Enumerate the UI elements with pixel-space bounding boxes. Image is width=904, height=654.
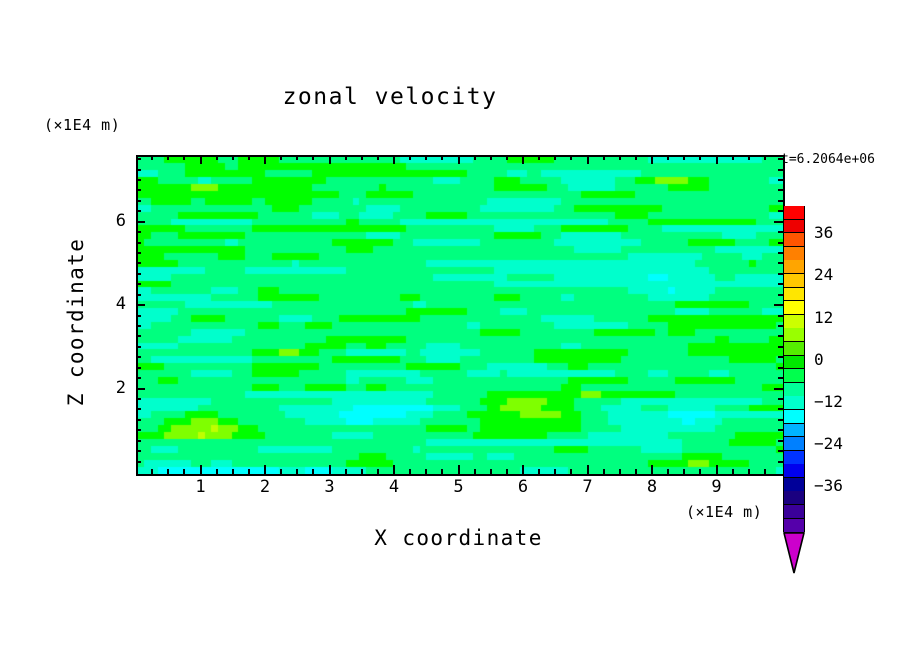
y-tick bbox=[774, 388, 783, 390]
colorbar-segment bbox=[783, 342, 805, 356]
x-tick bbox=[377, 469, 379, 474]
y-tick bbox=[136, 210, 141, 212]
x-tick bbox=[312, 469, 314, 474]
x-tick-label: 8 bbox=[632, 477, 672, 497]
y-tick bbox=[136, 315, 141, 317]
y-tick bbox=[136, 440, 141, 442]
y-tick bbox=[136, 388, 145, 390]
y-tick bbox=[778, 200, 783, 202]
colorbar-segment bbox=[783, 410, 805, 424]
x-tick bbox=[409, 469, 411, 474]
x-tick bbox=[183, 155, 185, 160]
x-tick bbox=[635, 469, 637, 474]
contour-plot-area bbox=[136, 155, 785, 476]
y-tick bbox=[136, 398, 141, 400]
x-tick bbox=[474, 469, 476, 474]
x-tick bbox=[554, 155, 556, 160]
y-tick bbox=[136, 242, 141, 244]
colorbar-bottom-arrow bbox=[783, 532, 805, 574]
x-tick-label: 7 bbox=[568, 477, 608, 497]
x-tick bbox=[345, 469, 347, 474]
x-axis-title: X coordinate bbox=[136, 526, 781, 550]
x-tick bbox=[151, 469, 153, 474]
x-tick bbox=[667, 469, 669, 474]
colorbar-segment bbox=[783, 274, 805, 288]
y-tick-label: 2 bbox=[96, 378, 126, 398]
x-tick bbox=[506, 469, 508, 474]
x-tick bbox=[716, 155, 718, 164]
x-tick bbox=[538, 155, 540, 160]
x-tick bbox=[167, 155, 169, 160]
x-tick bbox=[506, 155, 508, 160]
y-tick bbox=[774, 221, 783, 223]
x-tick bbox=[264, 465, 266, 474]
x-tick bbox=[699, 155, 701, 160]
y-tick bbox=[778, 179, 783, 181]
y-tick bbox=[136, 429, 141, 431]
colorbar-segment bbox=[783, 206, 805, 220]
x-tick bbox=[296, 469, 298, 474]
x-tick bbox=[280, 155, 282, 160]
colorbar-segment bbox=[783, 383, 805, 397]
x-tick bbox=[683, 469, 685, 474]
colorbar-segment bbox=[783, 451, 805, 465]
x-tick bbox=[683, 155, 685, 160]
x-tick bbox=[183, 469, 185, 474]
x-tick bbox=[312, 155, 314, 160]
colorbar-segment bbox=[783, 220, 805, 234]
x-tick bbox=[570, 155, 572, 160]
x-tick bbox=[458, 155, 460, 164]
colorbar-segment bbox=[783, 356, 805, 370]
x-tick bbox=[167, 469, 169, 474]
y-tick bbox=[136, 408, 141, 410]
colorbar-tick-label: −12 bbox=[814, 392, 843, 411]
x-tick bbox=[587, 155, 589, 164]
x-tick bbox=[329, 465, 331, 474]
figure-canvas: zonal velocity (×1E4 m) (×1E4 m) X coord… bbox=[0, 0, 904, 654]
colorbar-tick-label: 24 bbox=[814, 265, 833, 284]
x-tick bbox=[651, 465, 653, 474]
x-tick bbox=[748, 155, 750, 160]
x-tick bbox=[280, 469, 282, 474]
y-tick bbox=[136, 252, 141, 254]
colorbar-tick-label: −36 bbox=[814, 476, 843, 495]
x-tick bbox=[490, 469, 492, 474]
colorbar-segment bbox=[783, 478, 805, 492]
x-tick-label: 1 bbox=[181, 477, 221, 497]
x-tick bbox=[296, 155, 298, 160]
x-tick bbox=[425, 469, 427, 474]
x-tick bbox=[651, 155, 653, 164]
y-tick bbox=[136, 325, 141, 327]
x-tick bbox=[216, 155, 218, 160]
y-tick-label: 4 bbox=[96, 294, 126, 314]
colorbar-segment bbox=[783, 315, 805, 329]
x-tick bbox=[474, 155, 476, 160]
colorbar-segment bbox=[783, 424, 805, 438]
x-tick bbox=[732, 155, 734, 160]
y-tick bbox=[774, 304, 783, 306]
x-tick bbox=[151, 155, 153, 160]
y-tick bbox=[136, 273, 141, 275]
y-tick bbox=[136, 189, 141, 191]
y-tick bbox=[136, 179, 141, 181]
x-tick bbox=[699, 469, 701, 474]
y-tick bbox=[136, 294, 141, 296]
x-tick bbox=[441, 155, 443, 160]
x-tick-label: 4 bbox=[374, 477, 414, 497]
y-tick-label: 6 bbox=[96, 211, 126, 231]
colorbar-segment bbox=[783, 301, 805, 315]
x-tick bbox=[570, 469, 572, 474]
x-tick bbox=[200, 155, 202, 164]
colorbar-segment bbox=[783, 505, 805, 519]
colorbar-segment bbox=[783, 328, 805, 342]
x-tick bbox=[248, 155, 250, 160]
x-unit-label: (×1E4 m) bbox=[686, 503, 762, 521]
x-tick bbox=[216, 469, 218, 474]
x-tick bbox=[393, 465, 395, 474]
x-tick bbox=[200, 465, 202, 474]
x-tick bbox=[748, 469, 750, 474]
x-tick bbox=[248, 469, 250, 474]
y-tick bbox=[136, 335, 141, 337]
x-tick bbox=[345, 155, 347, 160]
x-tick bbox=[716, 465, 718, 474]
x-tick bbox=[635, 155, 637, 160]
x-tick bbox=[522, 155, 524, 164]
y-tick bbox=[778, 189, 783, 191]
colorbar bbox=[783, 206, 805, 532]
y-tick bbox=[136, 221, 145, 223]
y-tick bbox=[136, 304, 145, 306]
x-tick bbox=[490, 155, 492, 160]
y-tick bbox=[136, 461, 141, 463]
y-tick bbox=[136, 450, 141, 452]
x-tick bbox=[232, 155, 234, 160]
x-tick bbox=[329, 155, 331, 164]
y-tick bbox=[136, 200, 141, 202]
x-tick bbox=[619, 469, 621, 474]
x-tick bbox=[425, 155, 427, 160]
x-tick bbox=[458, 465, 460, 474]
y-tick bbox=[136, 367, 141, 369]
contour-field bbox=[138, 157, 783, 474]
y-tick bbox=[136, 231, 141, 233]
colorbar-segment bbox=[783, 247, 805, 261]
x-tick bbox=[667, 155, 669, 160]
colorbar-segment bbox=[783, 233, 805, 247]
x-tick bbox=[441, 469, 443, 474]
colorbar-tick-label: −24 bbox=[814, 434, 843, 453]
y-tick bbox=[778, 158, 783, 160]
y-tick bbox=[136, 169, 141, 171]
x-tick-label: 5 bbox=[439, 477, 479, 497]
colorbar-segment bbox=[783, 464, 805, 478]
y-tick bbox=[778, 169, 783, 171]
x-tick bbox=[603, 469, 605, 474]
y-tick bbox=[136, 377, 141, 379]
x-tick bbox=[264, 155, 266, 164]
y-tick bbox=[136, 346, 141, 348]
x-tick bbox=[232, 469, 234, 474]
x-tick bbox=[409, 155, 411, 160]
x-tick bbox=[554, 469, 556, 474]
timestamp-label: t=6.2064e+06 bbox=[781, 152, 875, 167]
x-tick bbox=[361, 469, 363, 474]
y-tick bbox=[136, 283, 141, 285]
colorbar-segment bbox=[783, 288, 805, 302]
colorbar-segment bbox=[783, 260, 805, 274]
x-tick bbox=[732, 469, 734, 474]
colorbar-tick-label: 36 bbox=[814, 223, 833, 242]
x-tick bbox=[764, 155, 766, 160]
x-tick bbox=[377, 155, 379, 160]
y-tick bbox=[136, 158, 141, 160]
y-tick bbox=[136, 262, 141, 264]
colorbar-segment bbox=[783, 437, 805, 451]
x-tick bbox=[522, 465, 524, 474]
colorbar-segment bbox=[783, 519, 805, 533]
x-tick bbox=[361, 155, 363, 160]
x-tick bbox=[619, 155, 621, 160]
x-tick-label: 9 bbox=[697, 477, 737, 497]
y-unit-label: (×1E4 m) bbox=[44, 116, 120, 134]
y-tick bbox=[136, 419, 141, 421]
x-tick-label: 6 bbox=[503, 477, 543, 497]
x-tick bbox=[538, 469, 540, 474]
colorbar-tick-label: 0 bbox=[814, 350, 824, 369]
x-tick-label: 3 bbox=[310, 477, 350, 497]
colorbar-segment bbox=[783, 491, 805, 505]
colorbar-segment bbox=[783, 396, 805, 410]
y-axis-title: Z coordinate bbox=[64, 227, 88, 417]
x-tick-label: 2 bbox=[245, 477, 285, 497]
x-tick bbox=[587, 465, 589, 474]
page-title: zonal velocity bbox=[0, 84, 780, 110]
colorbar-tick-label: 12 bbox=[814, 308, 833, 327]
x-tick bbox=[603, 155, 605, 160]
colorbar-segment bbox=[783, 369, 805, 383]
y-tick bbox=[136, 356, 141, 358]
x-tick bbox=[393, 155, 395, 164]
x-tick bbox=[764, 469, 766, 474]
